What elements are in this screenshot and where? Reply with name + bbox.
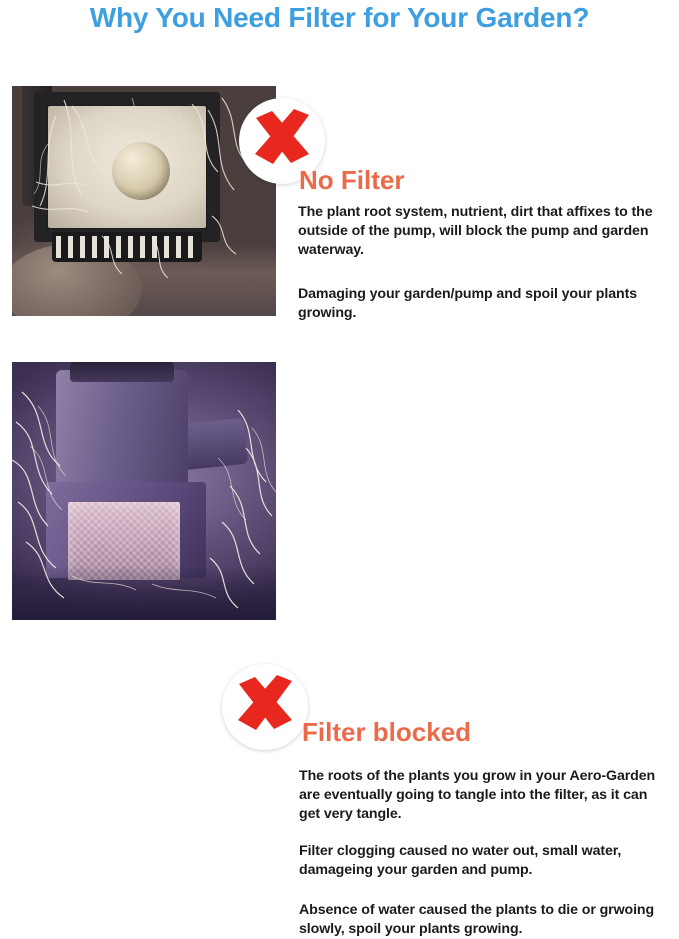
photo-filter-blocked — [12, 362, 276, 620]
filter-blocked-paragraph-3: Absence of water caused the plants to di… — [299, 901, 671, 939]
no-filter-paragraph-1: The plant root system, nutrient, dirt th… — [298, 203, 670, 260]
photo-no-filter — [12, 86, 276, 316]
red-x-icon — [222, 664, 308, 750]
pump-impeller — [112, 142, 170, 200]
section-filter-blocked: Filter blocked The roots of the plants y… — [0, 330, 679, 630]
pump-grille — [56, 236, 196, 258]
photo-shadow — [12, 566, 276, 620]
section-heading-filter-blocked: Filter blocked — [302, 717, 471, 748]
filter-blocked-paragraph-2: Filter clogging caused no water out, sma… — [299, 842, 671, 880]
pump-cap — [70, 362, 174, 382]
filter-blocked-paragraph-1: The roots of the plants you grow in your… — [299, 767, 671, 824]
section-heading-no-filter: No Filter — [299, 165, 404, 196]
section-no-filter: No Filter The plant root system, nutrien… — [0, 48, 679, 328]
filter-blocked-x-badge — [222, 664, 308, 750]
no-filter-paragraph-2: Damaging your garden/pump and spoil your… — [298, 285, 670, 323]
page-title: Why You Need Filter for Your Garden? — [0, 2, 679, 34]
